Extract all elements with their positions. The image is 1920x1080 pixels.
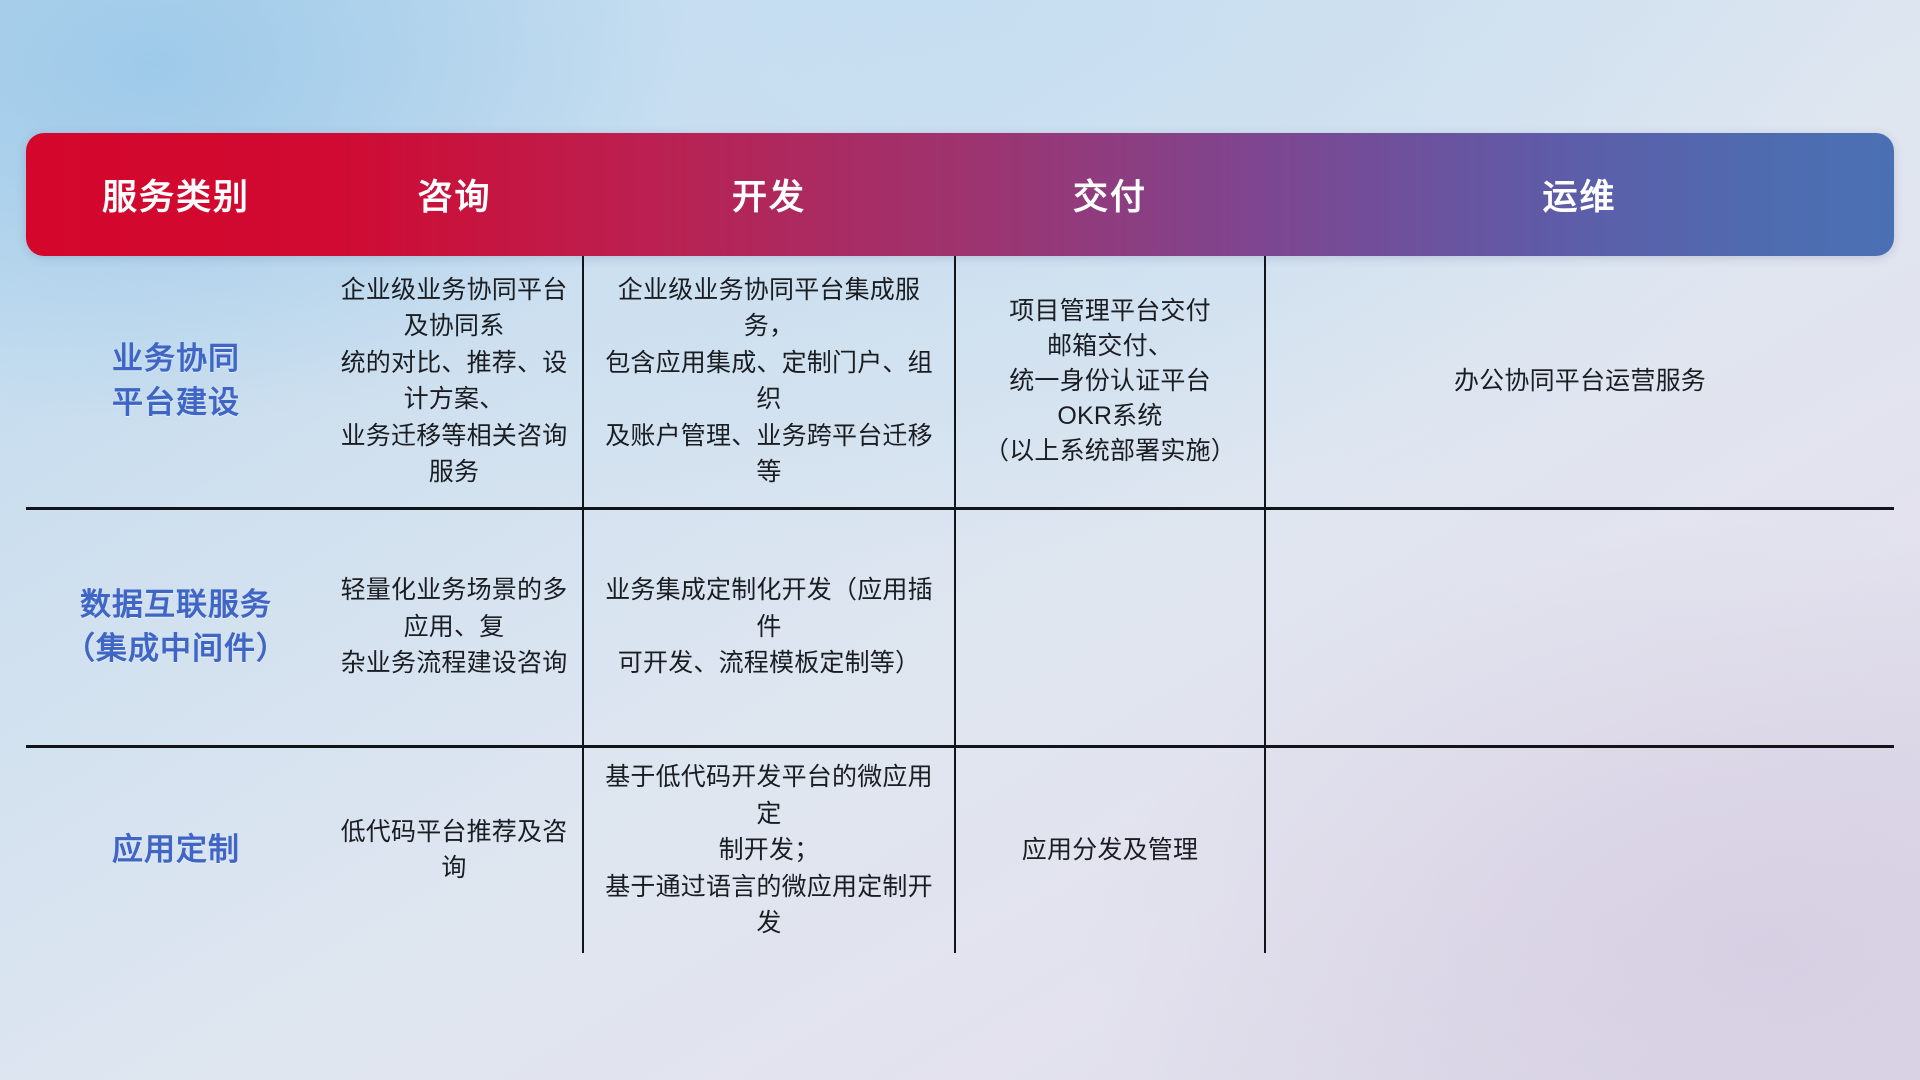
cell-consulting: 企业级业务协同平台及协同系统的对比、推荐、设计方案、业务迁移等相关咨询服务 [326, 256, 583, 508]
cell-text: 企业级业务协同平台集成服务，包含应用集成、定制门户、组织及账户管理、业务跨平台迁… [596, 272, 942, 491]
column-header-development[interactable]: 开发 [583, 133, 955, 256]
cell-consulting: 轻量化业务场景的多应用、复杂业务流程建设咨询 [326, 508, 583, 746]
column-header-category[interactable]: 服务类别 [26, 133, 326, 256]
table-head: 服务类别 咨询 开发 交付 运维 [26, 133, 1894, 256]
cell-text: 低代码平台推荐及咨询 [338, 814, 570, 887]
row-label-text: 数据互联服务（集成中间件） [38, 583, 314, 671]
cell-development: 基于低代码开发平台的微应用定制开发；基于通过语言的微应用定制开发 [583, 746, 955, 953]
cell-text: 业务集成定制化开发（应用插件可开发、流程模板定制等） [596, 572, 942, 682]
slide-canvas: 服务类别 咨询 开发 交付 运维 业务协同平台建设 企业级业务协同平台及协同系统… [0, 0, 1920, 1080]
row-label-cell: 数据互联服务（集成中间件） [26, 508, 326, 746]
cell-consulting: 低代码平台推荐及咨询 [326, 746, 583, 953]
cell-text: 基于低代码开发平台的微应用定制开发；基于通过语言的微应用定制开发 [596, 759, 942, 942]
cell-ops [1265, 746, 1894, 953]
service-matrix-table: 服务类别 咨询 开发 交付 运维 业务协同平台建设 企业级业务协同平台及协同系统… [26, 133, 1894, 953]
column-header-consulting[interactable]: 咨询 [326, 133, 583, 256]
row-label-text: 应用定制 [38, 828, 314, 872]
table-row: 数据互联服务（集成中间件） 轻量化业务场景的多应用、复杂业务流程建设咨询 业务集… [26, 508, 1894, 746]
table-row: 业务协同平台建设 企业级业务协同平台及协同系统的对比、推荐、设计方案、业务迁移等… [26, 256, 1894, 508]
row-label-cell: 应用定制 [26, 746, 326, 953]
cell-delivery: 应用分发及管理 [955, 746, 1265, 953]
cell-text: 办公协同平台运营服务 [1278, 363, 1882, 400]
cell-text: 项目管理平台交付邮箱交付、统一身份认证平台OKR系统（以上系统部署实施） [968, 294, 1252, 469]
row-label-cell: 业务协同平台建设 [26, 256, 326, 508]
cell-text: 企业级业务协同平台及协同系统的对比、推荐、设计方案、业务迁移等相关咨询服务 [338, 272, 570, 491]
cell-development: 业务集成定制化开发（应用插件可开发、流程模板定制等） [583, 508, 955, 746]
cell-delivery: 项目管理平台交付邮箱交付、统一身份认证平台OKR系统（以上系统部署实施） [955, 256, 1265, 508]
cell-development: 企业级业务协同平台集成服务，包含应用集成、定制门户、组织及账户管理、业务跨平台迁… [583, 256, 955, 508]
cell-delivery [955, 508, 1265, 746]
service-table: 服务类别 咨询 开发 交付 运维 业务协同平台建设 企业级业务协同平台及协同系统… [26, 133, 1894, 953]
header-row: 服务类别 咨询 开发 交付 运维 [26, 133, 1894, 256]
cell-ops [1265, 508, 1894, 746]
cell-text: 轻量化业务场景的多应用、复杂业务流程建设咨询 [338, 572, 570, 682]
cell-ops: 办公协同平台运营服务 [1265, 256, 1894, 508]
column-header-delivery[interactable]: 交付 [955, 133, 1265, 256]
cell-text: 应用分发及管理 [968, 832, 1252, 869]
table-body: 业务协同平台建设 企业级业务协同平台及协同系统的对比、推荐、设计方案、业务迁移等… [26, 256, 1894, 953]
table-row: 应用定制 低代码平台推荐及咨询 基于低代码开发平台的微应用定制开发；基于通过语言… [26, 746, 1894, 953]
column-header-ops[interactable]: 运维 [1265, 133, 1894, 256]
row-label-text: 业务协同平台建设 [38, 337, 314, 425]
